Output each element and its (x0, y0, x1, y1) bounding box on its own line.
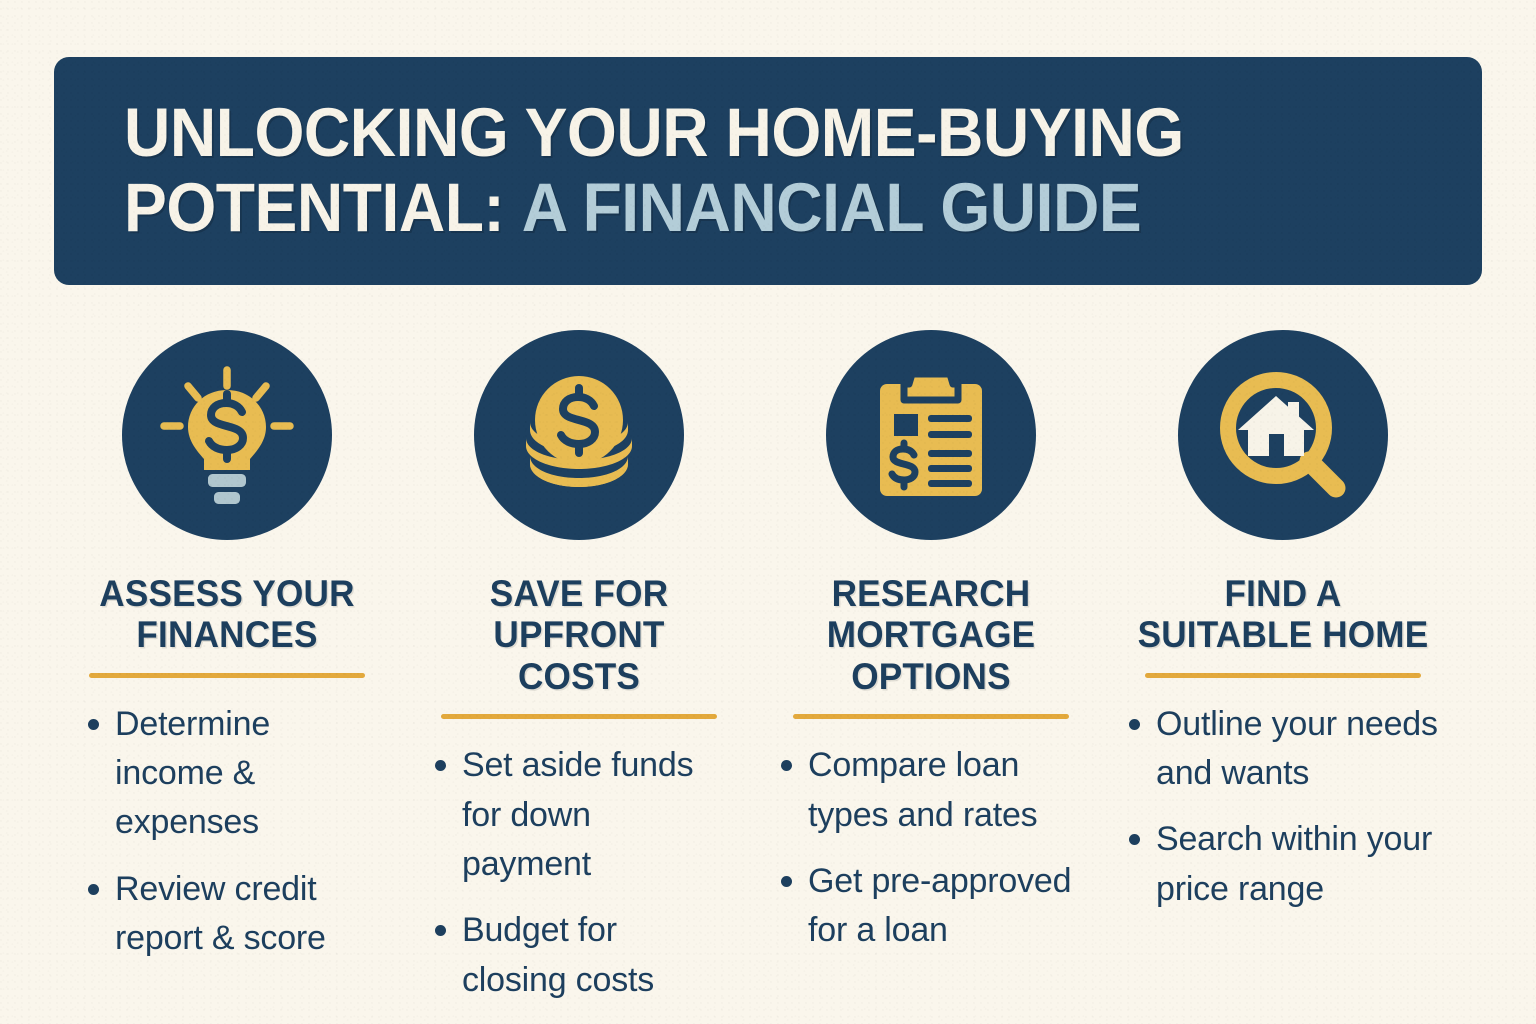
list-item: Get pre-approved for a loan (775, 857, 1087, 956)
step-heading: SAVE FOR UPFRONT COSTS (432, 573, 727, 697)
step-column-research-mortgage: RESEARCH MORTGAGE OPTIONS Compare loan t… (755, 330, 1107, 1022)
lightbulb-dollar-icon (122, 330, 332, 540)
list-item: Budget for closing costs (429, 906, 729, 1005)
steps-row: ASSESS YOUR FINANCES Determine income & … (0, 330, 1536, 1022)
list-item: Determine income & expenses (82, 700, 372, 848)
step-column-find-home: FIND A SUITABLE HOME Outline your needs … (1107, 330, 1459, 1022)
heading-divider (89, 673, 365, 678)
step-bullet-list: Determine income & expenses Review credi… (82, 700, 372, 980)
step-column-assess-finances: ASSESS YOUR FINANCES Determine income & … (51, 330, 403, 1022)
list-item: Search within your price range (1123, 815, 1443, 914)
list-item: Outline your needs and wants (1123, 700, 1443, 799)
list-item: Compare loan types and rates (775, 741, 1087, 840)
infographic-page: UNLOCKING YOUR HOME-BUYING POTENTIAL: A … (0, 0, 1536, 1024)
list-item: Review credit report & score (82, 865, 372, 964)
coin-stack-dollar-icon (474, 330, 684, 540)
page-title-line-2: POTENTIAL: A FINANCIAL GUIDE (124, 171, 1387, 246)
header-banner: UNLOCKING YOUR HOME-BUYING POTENTIAL: A … (54, 57, 1482, 285)
magnifier-house-icon (1178, 330, 1388, 540)
step-bullet-list: Set aside funds for down payment Budget … (429, 741, 729, 1021)
step-bullet-list: Compare loan types and rates Get pre-app… (775, 741, 1087, 972)
list-item: Set aside funds for down payment (429, 741, 729, 889)
step-heading: ASSESS YOUR FINANCES (80, 573, 375, 656)
step-column-save-upfront-costs: SAVE FOR UPFRONT COSTS Set aside funds f… (403, 330, 755, 1022)
heading-divider (793, 714, 1069, 719)
step-bullet-list: Outline your needs and wants Search with… (1123, 700, 1443, 931)
page-title-main: POTENTIAL: (124, 169, 504, 246)
page-title-accent: A FINANCIAL GUIDE (522, 169, 1142, 246)
heading-divider (441, 714, 717, 719)
clipboard-dollar-icon (826, 330, 1036, 540)
step-heading: FIND A SUITABLE HOME (1136, 573, 1431, 656)
page-title-line-1: UNLOCKING YOUR HOME-BUYING (124, 96, 1387, 171)
step-heading: RESEARCH MORTGAGE OPTIONS (784, 573, 1079, 697)
heading-divider (1145, 673, 1421, 678)
